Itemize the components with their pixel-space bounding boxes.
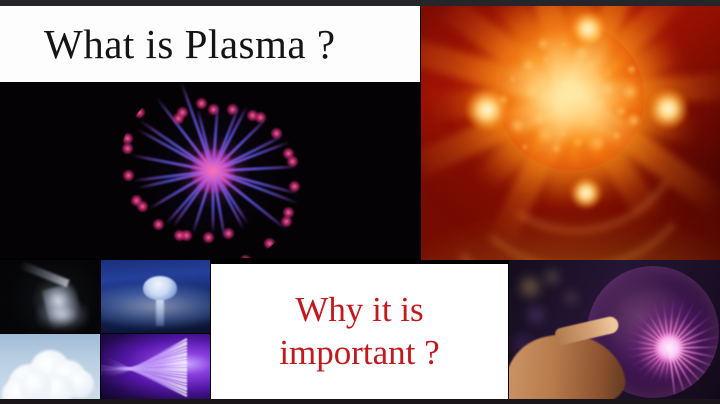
blast-stem xyxy=(156,296,164,326)
plasma-globe-graphic xyxy=(118,82,308,258)
blast-cap xyxy=(143,276,177,300)
background-bokeh xyxy=(543,268,561,286)
lightning-bolt-photo xyxy=(101,334,210,399)
cloud-puff xyxy=(20,370,52,399)
bottom-letterbox-strip xyxy=(0,399,720,404)
welding-arc-photo xyxy=(0,260,100,333)
coronal-arc xyxy=(421,6,720,260)
globe-node xyxy=(174,230,185,241)
top-letterbox-strip xyxy=(0,0,720,6)
page-title: What is Plasma ? xyxy=(44,24,336,65)
plasma-globe-photo xyxy=(0,82,420,258)
question-line-2: important ? xyxy=(279,332,439,375)
question-line-1: Why it is xyxy=(295,289,423,332)
nuclear-blast-photo xyxy=(101,260,210,333)
background-bokeh xyxy=(525,304,547,326)
hand-touching-plasma-ball-photo xyxy=(509,260,720,399)
globe-node xyxy=(123,170,134,181)
globe-node xyxy=(134,107,145,118)
globe-node xyxy=(122,143,133,154)
plasma-examples-quad xyxy=(0,260,210,399)
globe-node xyxy=(240,255,251,258)
plasma-title-slide: What is Plasma ? Why it is important ? xyxy=(0,0,720,404)
background-bokeh xyxy=(517,274,543,300)
welder-arm xyxy=(18,261,69,288)
question-box: Why it is important ? xyxy=(211,264,508,400)
welder-plume xyxy=(36,300,88,330)
title-band: What is Plasma ? xyxy=(0,6,420,82)
globe-node xyxy=(196,98,207,109)
solar-flare-photo xyxy=(421,6,720,260)
globe-node xyxy=(153,219,164,230)
background-bokeh xyxy=(563,290,579,306)
globe-node xyxy=(177,107,188,118)
globe-node xyxy=(264,238,275,249)
globe-node xyxy=(122,133,133,144)
globe-node xyxy=(203,232,214,243)
globe-node xyxy=(131,195,142,206)
storm-cloud-photo xyxy=(0,334,100,399)
